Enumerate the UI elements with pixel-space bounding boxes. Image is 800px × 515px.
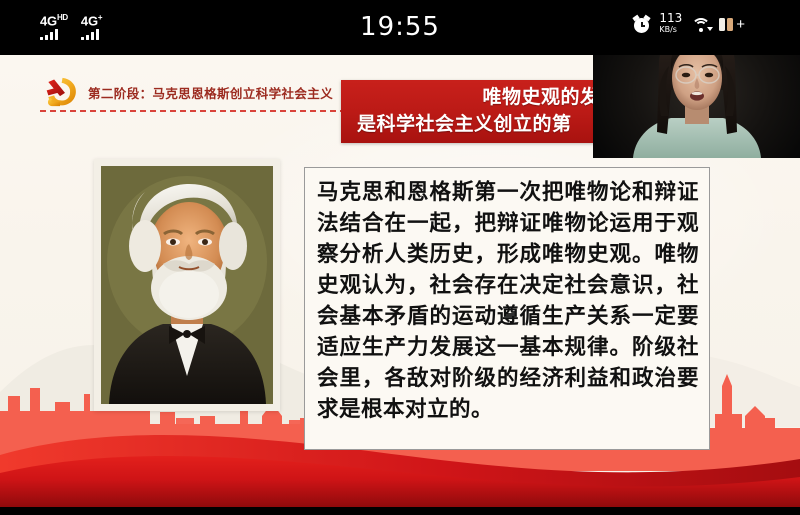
slide-body-text: 马克思和恩格斯第一次把唯物论和辩证法结合在一起，把辩证唯物论运用于观察分析人类历… (317, 177, 699, 425)
wifi-icon (691, 17, 710, 32)
marx-portrait-frame (94, 159, 280, 411)
status-bar-right: 113 KB/s + (633, 13, 745, 35)
battery-icon: + (719, 18, 745, 31)
bottom-black-strip (0, 507, 800, 515)
banner-line-1: 唯物史观的发现 (357, 84, 623, 111)
network-speed-indicator: 113 KB/s (659, 13, 682, 35)
status-bar: 4GHD 4G+ 19:55 113 KB/s + (0, 0, 800, 55)
banner-line-2: 是科学社会主义创立的第 (357, 111, 623, 138)
karl-marx-portrait (101, 166, 273, 404)
header-title: 第二阶段：马克思恩格斯创立科学社会主义 (88, 83, 333, 102)
alarm-clock-icon (633, 16, 650, 33)
slide-header: 第二阶段：马克思恩格斯创立科学社会主义 (40, 75, 333, 109)
party-emblem-hammer-sickle-icon (40, 75, 80, 109)
slide-body-textbox: 马克思和恩格斯第一次把唯物论和辩证法结合在一起，把辩证唯物论运用于观察分析人类历… (304, 167, 710, 450)
slide-title-banner: 唯物史观的发现 是科学社会主义创立的第 (341, 80, 633, 143)
phone-screen: 4GHD 4G+ 19:55 113 KB/s + (0, 0, 800, 515)
